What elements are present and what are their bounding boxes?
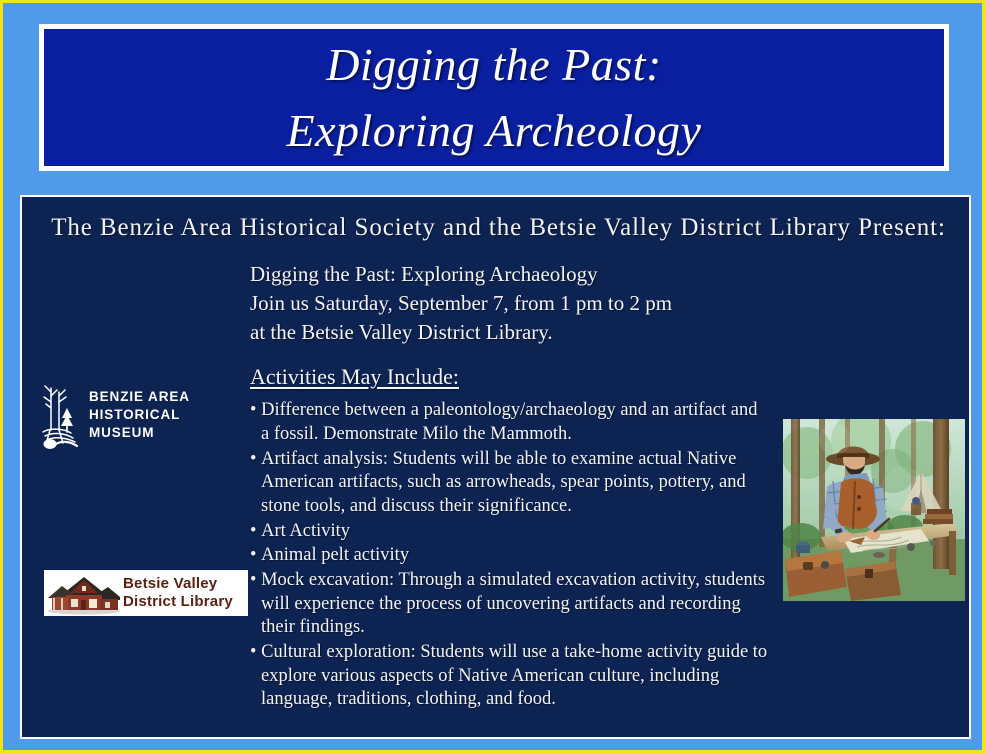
intro-line-1: Digging the Past: Exploring Archaeology [250,260,770,289]
activity-item: Cultural exploration: Students will use … [250,641,770,712]
activities-heading: Activities May Include: [250,364,770,390]
intro-line-2: Join us Saturday, September 7, from 1 pm… [250,289,770,318]
poster-header-band: Digging the Past: Exploring Archeology [6,6,982,187]
activity-item: Mock excavation: Through a simulated exc… [250,569,770,640]
poster-title-line-2: Exploring Archeology [287,98,702,163]
intro-block: Digging the Past: Exploring Archaeology … [250,260,770,346]
museum-logo-line-2: HISTORICAL MUSEUM [89,407,180,440]
event-poster: Digging the Past: Exploring Archeology T… [0,0,985,753]
activity-item: Animal pelt activity [250,544,770,568]
betsie-valley-district-library-logo: Betsie Valley District Library [44,570,248,616]
library-building-icon [44,571,122,615]
activities-list: Difference between a paleontology/archae… [250,399,770,712]
poster-title-box: Digging the Past: Exploring Archeology [39,24,949,171]
archaeologist-illustration [783,419,965,601]
poster-body-panel: The Benzie Area Historical Society and t… [20,195,971,739]
presenter-line: The Benzie Area Historical Society and t… [46,214,951,242]
content-column: Digging the Past: Exploring Archaeology … [250,260,770,713]
library-logo-line-1: Betsie Valley [123,575,217,592]
museum-logo-wordmark: BENZIE AREA HISTORICAL MUSEUM [89,388,237,441]
museum-logo-line-1: BENZIE AREA [89,389,190,404]
library-logo-wordmark: Betsie Valley District Library [123,575,233,610]
poster-title-line-1: Digging the Past: [326,32,662,97]
pine-tree-roots-icon [37,378,81,452]
intro-line-3: at the Betsie Valley District Library. [250,318,770,347]
activity-item: Difference between a paleontology/archae… [250,399,770,446]
benzie-historical-museum-logo: BENZIE AREA HISTORICAL MUSEUM [37,377,237,453]
activity-item: Artifact analysis: Students will be able… [250,448,770,519]
activity-item: Art Activity [250,520,770,544]
library-logo-line-2: District Library [123,593,233,610]
